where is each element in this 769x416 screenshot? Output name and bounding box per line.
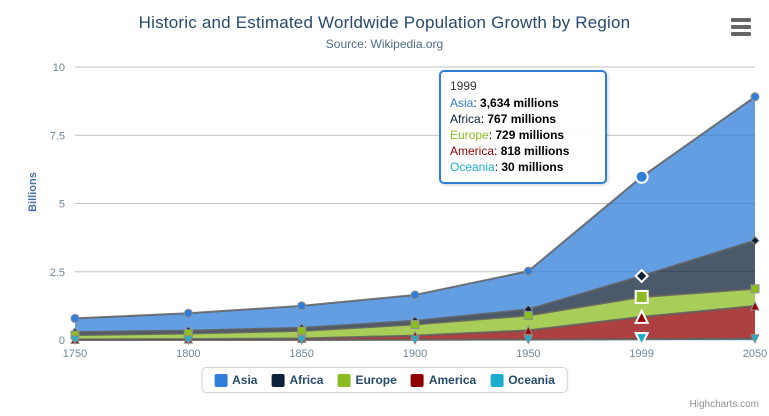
marker-asia[interactable] <box>411 291 419 299</box>
x-axis-tick-label: 1900 <box>403 348 427 360</box>
marker-asia[interactable] <box>636 171 648 183</box>
chart-legend: AsiaAfricaEuropeAmericaOceania <box>201 367 568 393</box>
x-axis-tick-label: 1950 <box>516 348 540 360</box>
marker-asia[interactable] <box>184 309 192 317</box>
marker-europe[interactable] <box>411 320 419 328</box>
tooltip-series-value: 818 millions <box>501 144 570 158</box>
x-axis-tick-label: 1800 <box>176 348 200 360</box>
marker-europe[interactable] <box>524 311 532 319</box>
legend-item-asia[interactable]: Asia <box>214 373 257 387</box>
legend-swatch-icon <box>337 374 350 387</box>
legend-swatch-icon <box>411 374 424 387</box>
legend-item-oceania[interactable]: Oceania <box>490 373 555 387</box>
x-axis-tick-label: 1850 <box>289 348 313 360</box>
legend-swatch-icon <box>271 374 284 387</box>
legend-swatch-icon <box>490 374 503 387</box>
tooltip-row: Europe: 729 millions <box>450 127 596 143</box>
tooltip-header: 1999 <box>450 78 596 94</box>
x-axis-tick-label: 1750 <box>63 348 87 360</box>
tooltip-series-name: Europe <box>450 128 489 142</box>
tooltip-series-value: 767 millions <box>487 112 556 126</box>
marker-asia[interactable] <box>524 267 532 275</box>
legend-item-label: Asia <box>232 373 257 387</box>
y-axis-tick-label: 2.5 <box>50 267 65 279</box>
tooltip-series-value: 3,634 millions <box>480 96 559 110</box>
marker-europe[interactable] <box>636 291 648 303</box>
series-areas <box>75 97 755 340</box>
highcharts-container: Historic and Estimated Worldwide Populat… <box>0 0 769 416</box>
credits-link[interactable]: Highcharts.com <box>690 399 759 410</box>
legend-item-europe[interactable]: Europe <box>337 373 396 387</box>
tooltip-series-value: 729 millions <box>495 128 564 142</box>
y-axis-tick-label: 5 <box>59 199 65 211</box>
tooltip-series-name: Asia <box>450 96 473 110</box>
tooltip-row: Africa: 767 millions <box>450 111 596 127</box>
x-axis-tick-label: 1999 <box>629 348 653 360</box>
legend-item-label: America <box>429 373 476 387</box>
legend-item-label: Europe <box>355 373 396 387</box>
marker-asia[interactable] <box>751 93 759 101</box>
legend-item-africa[interactable]: Africa <box>271 373 323 387</box>
y-axis-tick-label: 0 <box>59 335 65 347</box>
y-axis-tick-label: 10 <box>53 62 65 74</box>
y-axis-title: Billions <box>27 152 39 232</box>
tooltip-series-name: Oceania <box>450 160 495 174</box>
legend-item-america[interactable]: America <box>411 373 476 387</box>
tooltip-row: Asia: 3,634 millions <box>450 95 596 111</box>
tooltip: 1999 Asia: 3,634 millionsAfrica: 767 mil… <box>439 70 607 184</box>
marker-europe[interactable] <box>751 285 759 293</box>
plot-area: 02.557.510 1750180018501900195019992050 <box>0 0 769 416</box>
marker-asia[interactable] <box>71 314 79 322</box>
y-axis-tick-labels: 02.557.510 <box>50 62 65 347</box>
tooltip-rows: Asia: 3,634 millionsAfrica: 767 millions… <box>450 95 596 175</box>
legend-item-label: Oceania <box>508 373 555 387</box>
tooltip-series-name: Africa <box>450 112 481 126</box>
x-axis-tick-labels: 1750180018501900195019992050 <box>63 348 767 360</box>
tooltip-series-name: America <box>450 144 494 158</box>
tooltip-row: America: 818 millions <box>450 143 596 159</box>
chart-svg: 02.557.510 1750180018501900195019992050 <box>0 0 769 416</box>
legend-item-label: Africa <box>289 373 323 387</box>
tooltip-series-value: 30 millions <box>501 160 563 174</box>
marker-asia[interactable] <box>298 302 306 310</box>
x-axis-tick-label: 2050 <box>743 348 767 360</box>
legend-swatch-icon <box>214 374 227 387</box>
y-axis-tick-label: 7.5 <box>50 130 65 142</box>
tooltip-row: Oceania: 30 millions <box>450 159 596 175</box>
